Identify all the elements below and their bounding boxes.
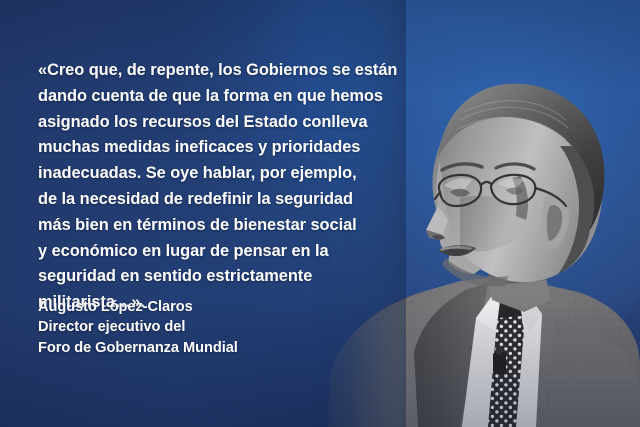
- attribution-organization: Foro de Gobernanza Mundial: [38, 338, 378, 358]
- quote-card: «Creo que, de repente, los Gobiernos se …: [0, 0, 640, 427]
- attribution-block: Augusto López-Claros Director ejecutivo …: [38, 297, 378, 358]
- quote-line: de la necesidad de redefinir la segurida…: [38, 187, 378, 213]
- attribution-name: Augusto López-Claros: [38, 297, 378, 317]
- quote-line: asignado los recursos del Estado conllev…: [38, 110, 378, 136]
- quote-line: dando cuenta de que la forma en que hemo…: [38, 84, 378, 110]
- quote-text: «Creo que, de repente, los Gobiernos se …: [38, 58, 378, 316]
- quote-line: más bien en términos de bienestar social: [38, 213, 378, 239]
- quote-line: y económico en lugar de pensar en la: [38, 239, 378, 265]
- quote-line: seguridad en sentido estrictamente: [38, 264, 378, 290]
- quote-line: «Creo que, de repente, los Gobiernos se …: [38, 58, 378, 84]
- quote-line: inadecuadas. Se oye hablar, por ejemplo,: [38, 161, 378, 187]
- attribution-title: Director ejecutivo del: [38, 317, 378, 337]
- quote-line: muchas medidas ineficaces y prioridades: [38, 135, 378, 161]
